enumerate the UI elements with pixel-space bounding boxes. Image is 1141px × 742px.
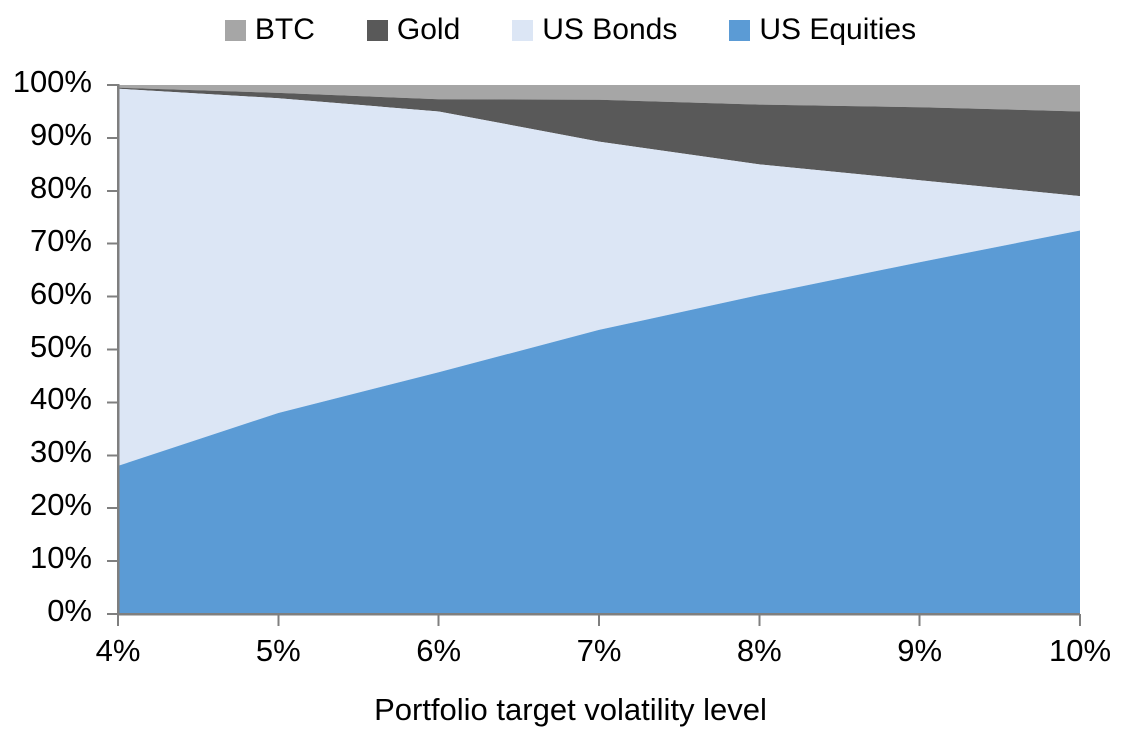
x-tick-label: 6% [416,633,461,669]
x-axis-title: Portfolio target volatility level [0,692,1141,728]
x-tick-label: 8% [737,633,782,669]
x-tick-label: 4% [96,633,141,669]
stacked-area-chart: BTC Gold US Bonds US Equities 100%90%80%… [0,0,1141,742]
x-tick-label: 10% [1049,633,1111,669]
x-tick-label: 7% [577,633,622,669]
x-tick-label: 9% [897,633,942,669]
x-tick-label: 5% [256,633,301,669]
x-axis-labels: 4%5%6%7%8%9%10% [0,0,1141,742]
